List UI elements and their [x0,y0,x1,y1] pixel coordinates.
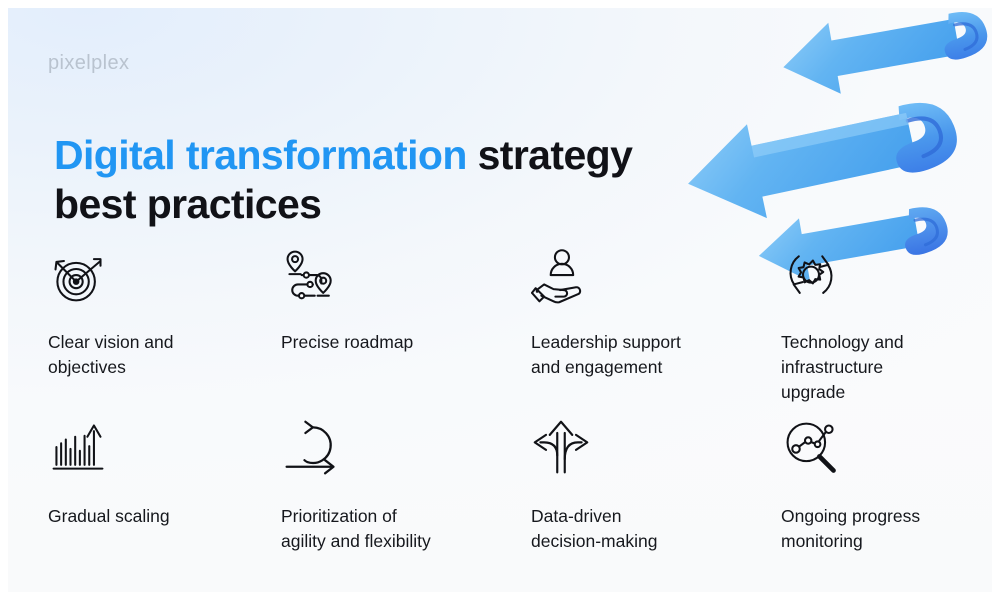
practice-item-4: Technology and infrastructure upgrade [781,246,978,418]
agile-cycle-icon [281,418,341,478]
pixelplex-logo: pixelplex [48,52,129,75]
practice-item-2: Precise roadmap [281,246,531,418]
practice-label: Data-driven decision-making [531,504,731,554]
practice-item-7: Data-driven decision-making [531,418,781,554]
practice-item-5: Gradual scaling [48,418,281,554]
infographic-slide: pixelplex Digital transformation strateg… [0,0,1000,600]
practice-item-3: Leadership support and engagement [531,246,781,418]
magnifier-network-icon [781,418,841,478]
slide-canvas: pixelplex Digital transformation strateg… [8,8,992,592]
practice-label: Ongoing progress monitoring [781,504,978,554]
roadmap-pins-icon [281,246,341,306]
bar-chart-arrow-icon [48,418,108,478]
practice-label: Prioritization of agility and flexibilit… [281,504,481,554]
hand-person-icon [531,246,591,306]
page-title-accent: Digital transformation [54,132,467,178]
three-way-arrows-icon [531,418,591,478]
practice-label: Clear vision and objectives [48,330,248,380]
practice-label: Technology and infrastructure upgrade [781,330,978,405]
practice-label: Precise roadmap [281,330,481,355]
practices-grid: Clear vision and objectives [48,246,978,554]
target-arrows-icon [48,246,108,306]
practice-label: Leadership support and engagement [531,330,731,380]
practice-item-6: Prioritization of agility and flexibilit… [281,418,531,554]
decorative-arrows [658,8,992,284]
practice-item-1: Clear vision and objectives [48,246,281,418]
practice-label: Gradual scaling [48,504,248,529]
practice-item-8: Ongoing progress monitoring [781,418,978,554]
gear-refresh-icon [781,246,841,306]
page-title: Digital transformation strategy best pra… [54,131,694,228]
